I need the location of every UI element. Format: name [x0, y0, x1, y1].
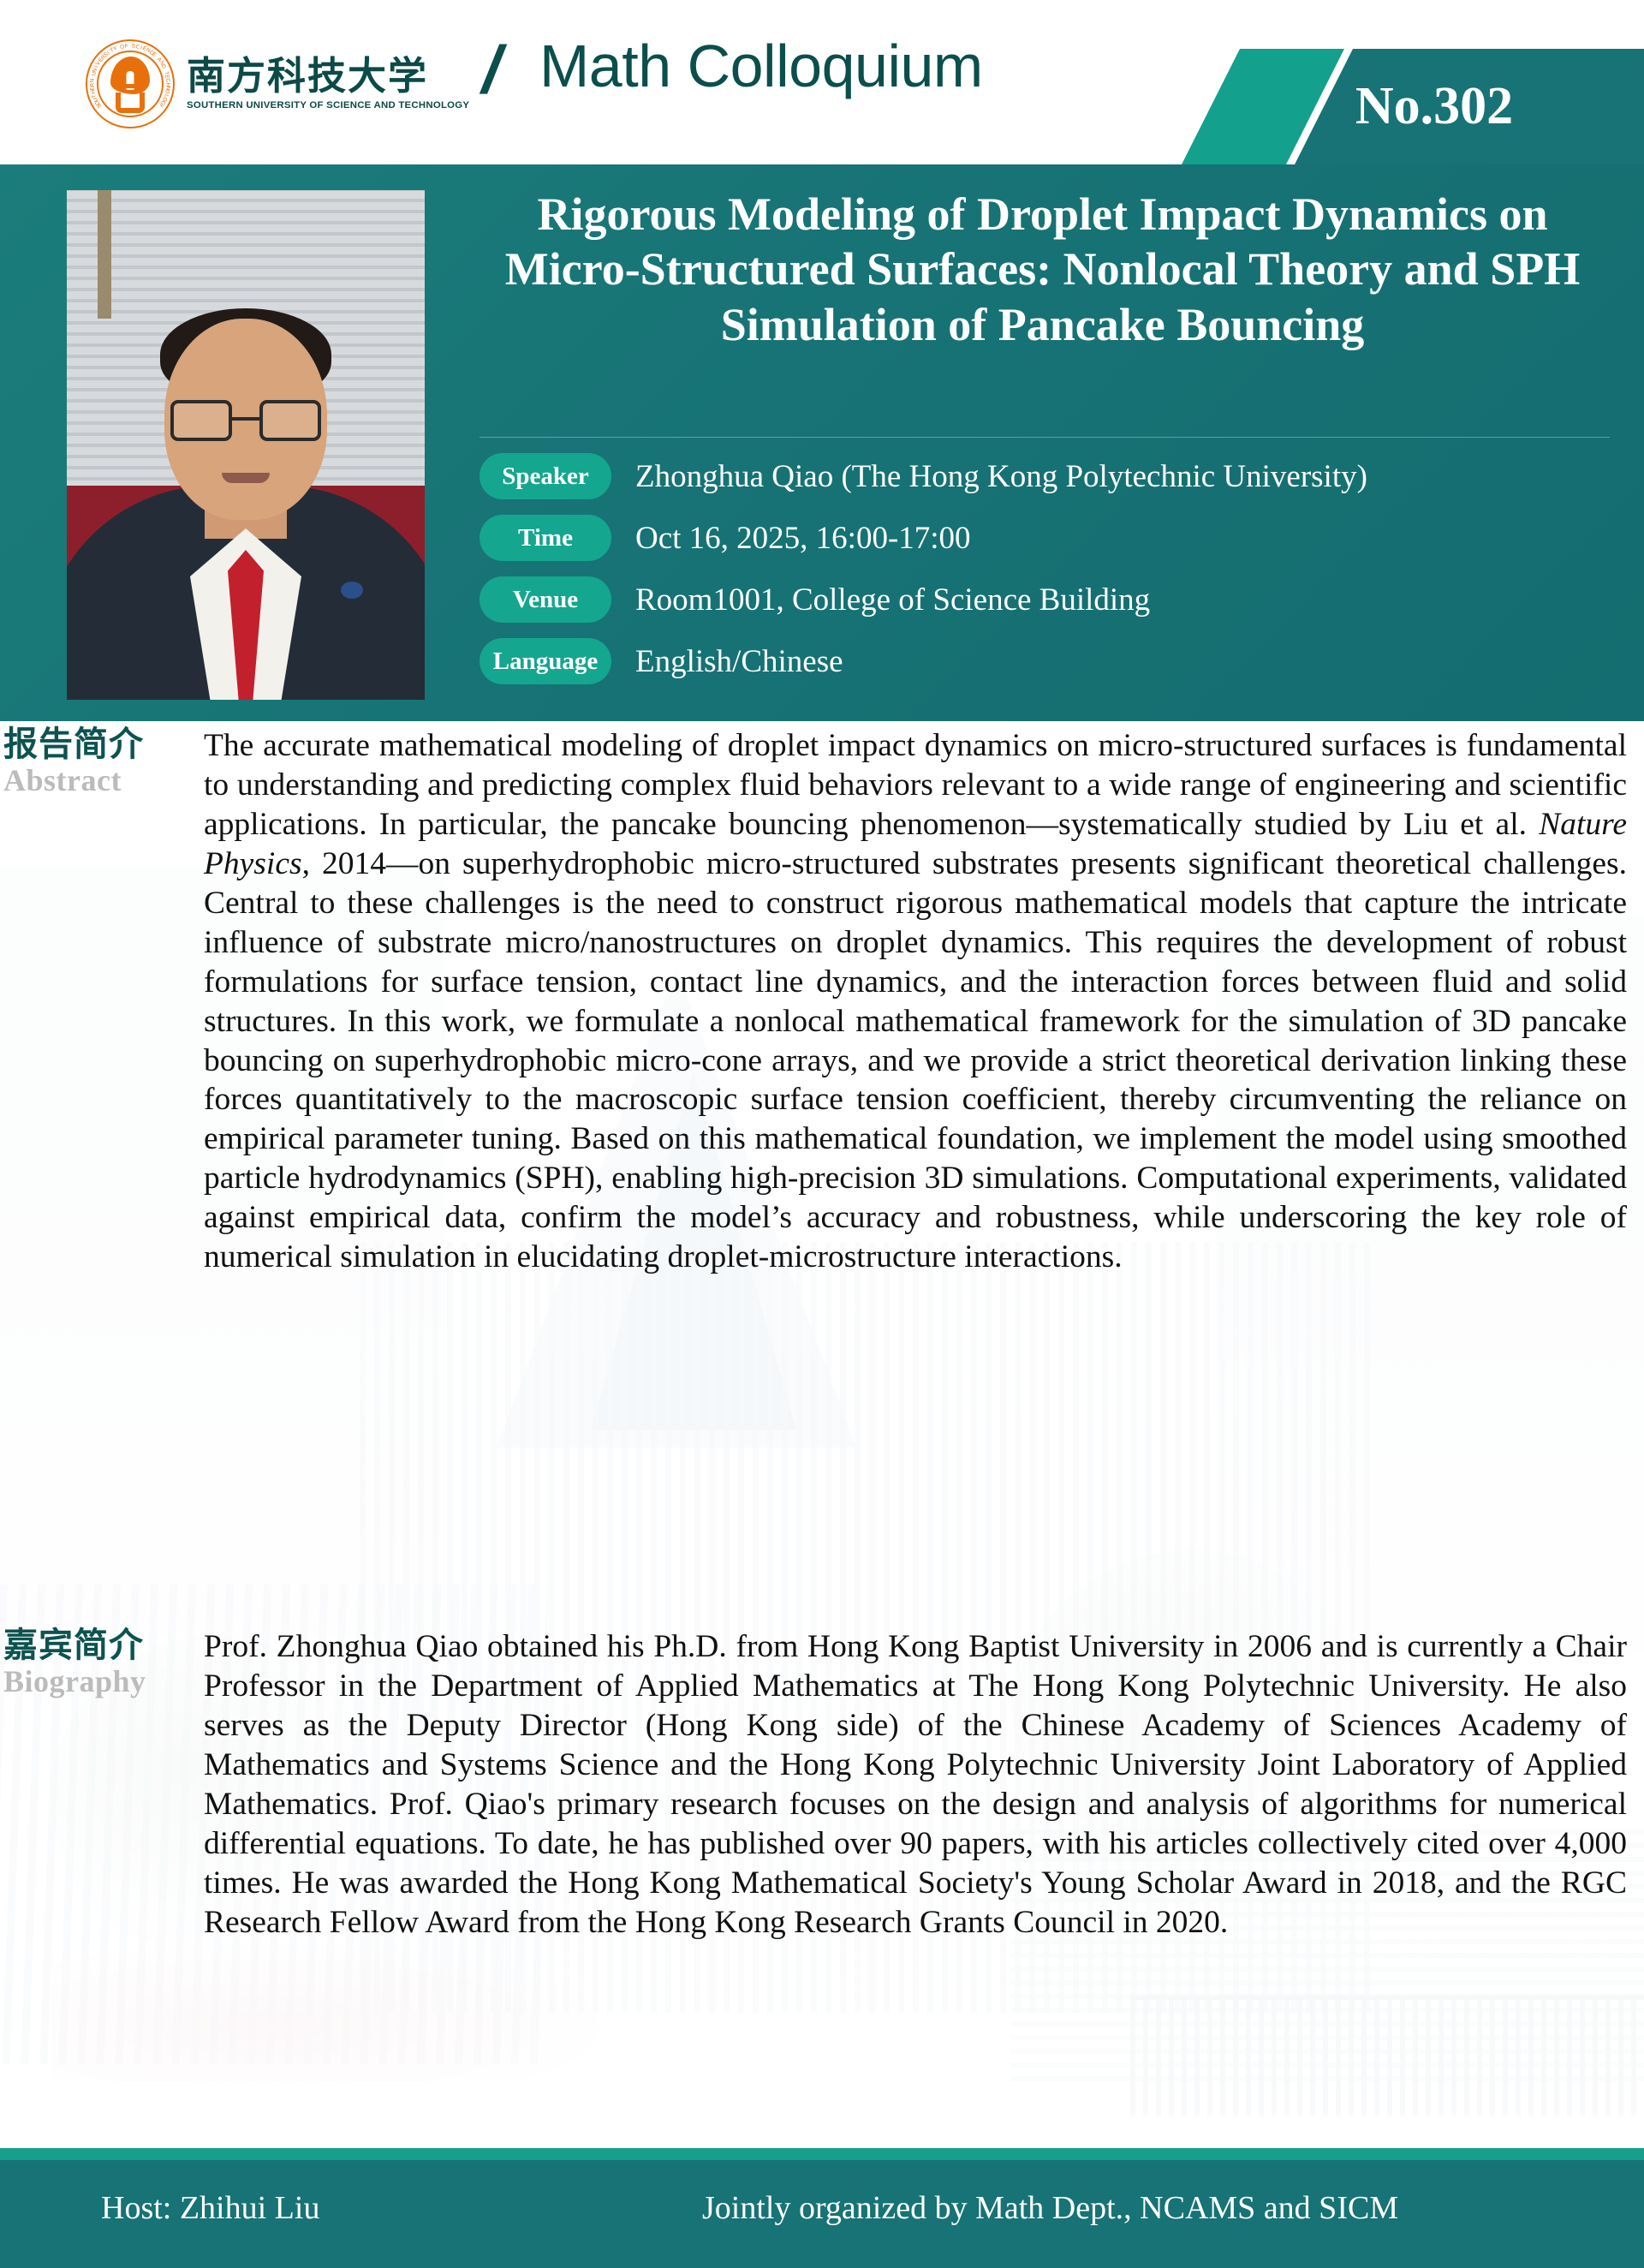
- talk-title: Rigorous Modeling of Droplet Impact Dyna…: [467, 187, 1618, 352]
- info-row-time: Time Oct 16, 2025, 16:00-17:00: [479, 515, 1627, 561]
- abstract-label-en: Abstract: [3, 764, 202, 797]
- header-slash-divider: /: [475, 31, 510, 109]
- university-logo: SOUTHERN UNIVERSITY OF SCIENCE AND TECHN…: [86, 39, 469, 128]
- info-label-venue: Venue: [479, 576, 611, 623]
- university-seal-icon: SOUTHERN UNIVERSITY OF SCIENCE AND TECHN…: [86, 39, 175, 128]
- abstract-text: The accurate mathematical modeling of dr…: [204, 726, 1627, 1277]
- info-value-speaker: Zhonghua Qiao (The Hong Kong Polytechnic…: [635, 458, 1367, 495]
- speaker-photo: [67, 190, 425, 700]
- abstract-text-part2: , 2014—on superhydrophobic micro-structu…: [204, 846, 1627, 1274]
- info-row-language: Language English/Chinese: [479, 638, 1627, 684]
- university-name-en: SOUTHERN UNIVERSITY OF SCIENCE AND TECHN…: [187, 100, 469, 110]
- biography-label-cn: 嘉宾简介: [3, 1627, 202, 1663]
- info-row-venue: Venue Room1001, College of Science Build…: [479, 576, 1627, 623]
- photo-window-frame: [98, 190, 111, 319]
- footer-host: Host: Zhihui Liu: [101, 2189, 319, 2227]
- number-badge-label: No.302: [1182, 49, 1644, 164]
- university-name-cn: 南方科技大学: [187, 57, 469, 97]
- info-label-language: Language: [479, 638, 611, 684]
- page-footer: Host: Zhihui Liu Jointly organized by Ma…: [0, 2160, 1644, 2268]
- hero-divider: [479, 437, 1610, 438]
- info-value-language: English/Chinese: [635, 643, 843, 680]
- info-label-time: Time: [479, 515, 611, 561]
- hero-block: Rigorous Modeling of Droplet Impact Dyna…: [0, 164, 1644, 721]
- abstract-label-cn: 报告简介: [3, 726, 202, 762]
- info-value-time: Oct 16, 2025, 16:00-17:00: [635, 520, 971, 557]
- abstract-label: 报告简介 Abstract: [3, 726, 202, 797]
- info-label-speaker: Speaker: [479, 453, 611, 499]
- photo-mouth: [222, 473, 270, 483]
- photo-eyeglasses: [170, 400, 321, 441]
- biography-label: 嘉宾简介 Biography: [3, 1627, 202, 1698]
- footer-organizers: Jointly organized by Math Dept., NCAMS a…: [702, 2189, 1398, 2227]
- abstract-text-part1: The accurate mathematical modeling of dr…: [204, 728, 1627, 842]
- footer-accent-rule: [0, 2148, 1644, 2160]
- photo-lapel-pin: [341, 582, 363, 599]
- seal-ring-text: SOUTHERN UNIVERSITY OF SCIENCE AND TECHN…: [86, 39, 175, 128]
- biography-text: Prof. Zhonghua Qiao obtained his Ph.D. f…: [204, 1627, 1627, 1943]
- biography-label-en: Biography: [3, 1665, 202, 1698]
- talk-info-list: Speaker Zhonghua Qiao (The Hong Kong Pol…: [479, 453, 1627, 700]
- series-title: Math Colloquium: [539, 32, 983, 100]
- page-header: SOUTHERN UNIVERSITY OF SCIENCE AND TECHN…: [0, 0, 1644, 164]
- info-row-speaker: Speaker Zhonghua Qiao (The Hong Kong Pol…: [479, 453, 1627, 499]
- info-value-venue: Room1001, College of Science Building: [635, 582, 1150, 618]
- number-badge-banner: No.302: [1182, 49, 1644, 164]
